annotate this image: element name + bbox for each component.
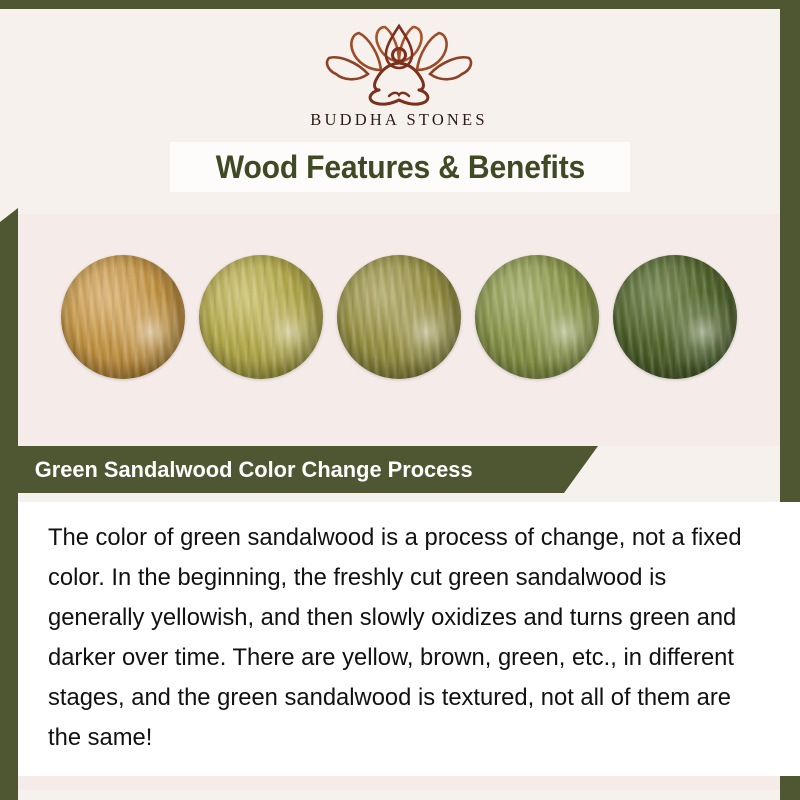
section-banner-text: Green Sandalwood Color Change Process (35, 457, 473, 483)
description-text: The color of green sandalwood is a proce… (48, 518, 752, 758)
left-green-bar (0, 208, 18, 800)
bead-stage-1 (61, 255, 185, 379)
bead-stage-4 (475, 255, 599, 379)
brand-logo: BUDDHA STONES (18, 22, 780, 130)
bead-gallery (18, 214, 780, 446)
brand-name: BUDDHA STONES (310, 110, 487, 130)
description-panel: The color of green sandalwood is a proce… (18, 502, 800, 776)
bead-shading (199, 255, 323, 379)
page-title: Wood Features & Benefits (170, 142, 630, 192)
bead-stage-5 (613, 255, 737, 379)
section-banner: Green Sandalwood Color Change Process (0, 446, 598, 493)
bead-shading (613, 255, 737, 379)
header: BUDDHA STONES (18, 10, 780, 142)
bead-row (18, 255, 780, 379)
top-green-strip (0, 0, 800, 9)
bead-shading (475, 255, 599, 379)
lotus-meditation-icon (323, 22, 475, 106)
bead-shading (337, 255, 461, 379)
bead-shading (61, 255, 185, 379)
page-title-text: Wood Features & Benefits (215, 149, 584, 186)
infographic-page: BUDDHA STONES Wood Features & Benefits (0, 0, 800, 800)
bead-stage-2 (199, 255, 323, 379)
bead-stage-3 (337, 255, 461, 379)
bottom-cream-strip (18, 776, 780, 790)
